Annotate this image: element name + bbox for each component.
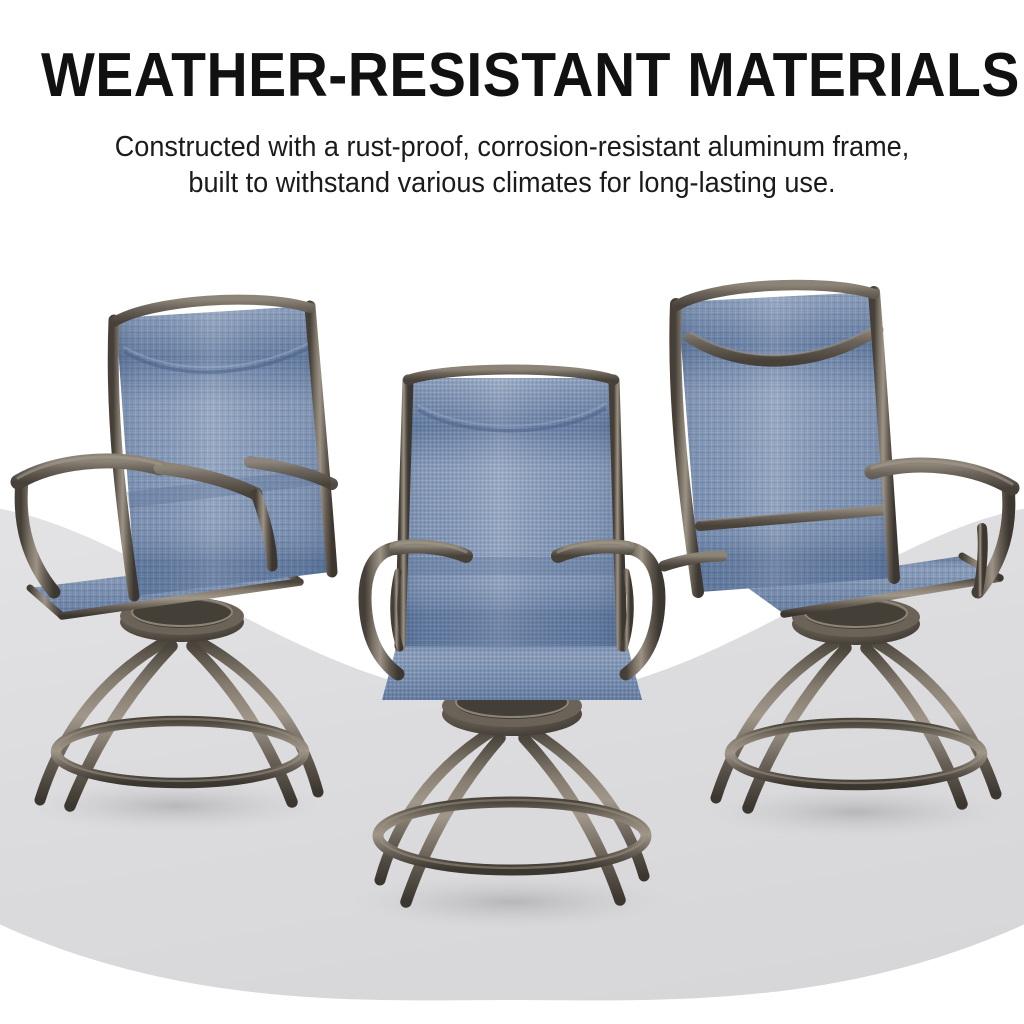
- marketing-banner: WEATHER-RESISTANT MATERIALS Constructed …: [0, 0, 1024, 1024]
- chair-center: [352, 370, 672, 947]
- text-block: WEATHER-RESISTANT MATERIALS Constructed …: [0, 0, 1024, 201]
- subtitle-line-2: built to withstand various climates for …: [26, 165, 999, 201]
- page-title: WEATHER-RESISTANT MATERIALS: [41, 0, 983, 107]
- subtitle: Constructed with a rust-proof, corrosion…: [26, 107, 999, 201]
- subtitle-line-1: Constructed with a rust-proof, corrosion…: [26, 129, 999, 165]
